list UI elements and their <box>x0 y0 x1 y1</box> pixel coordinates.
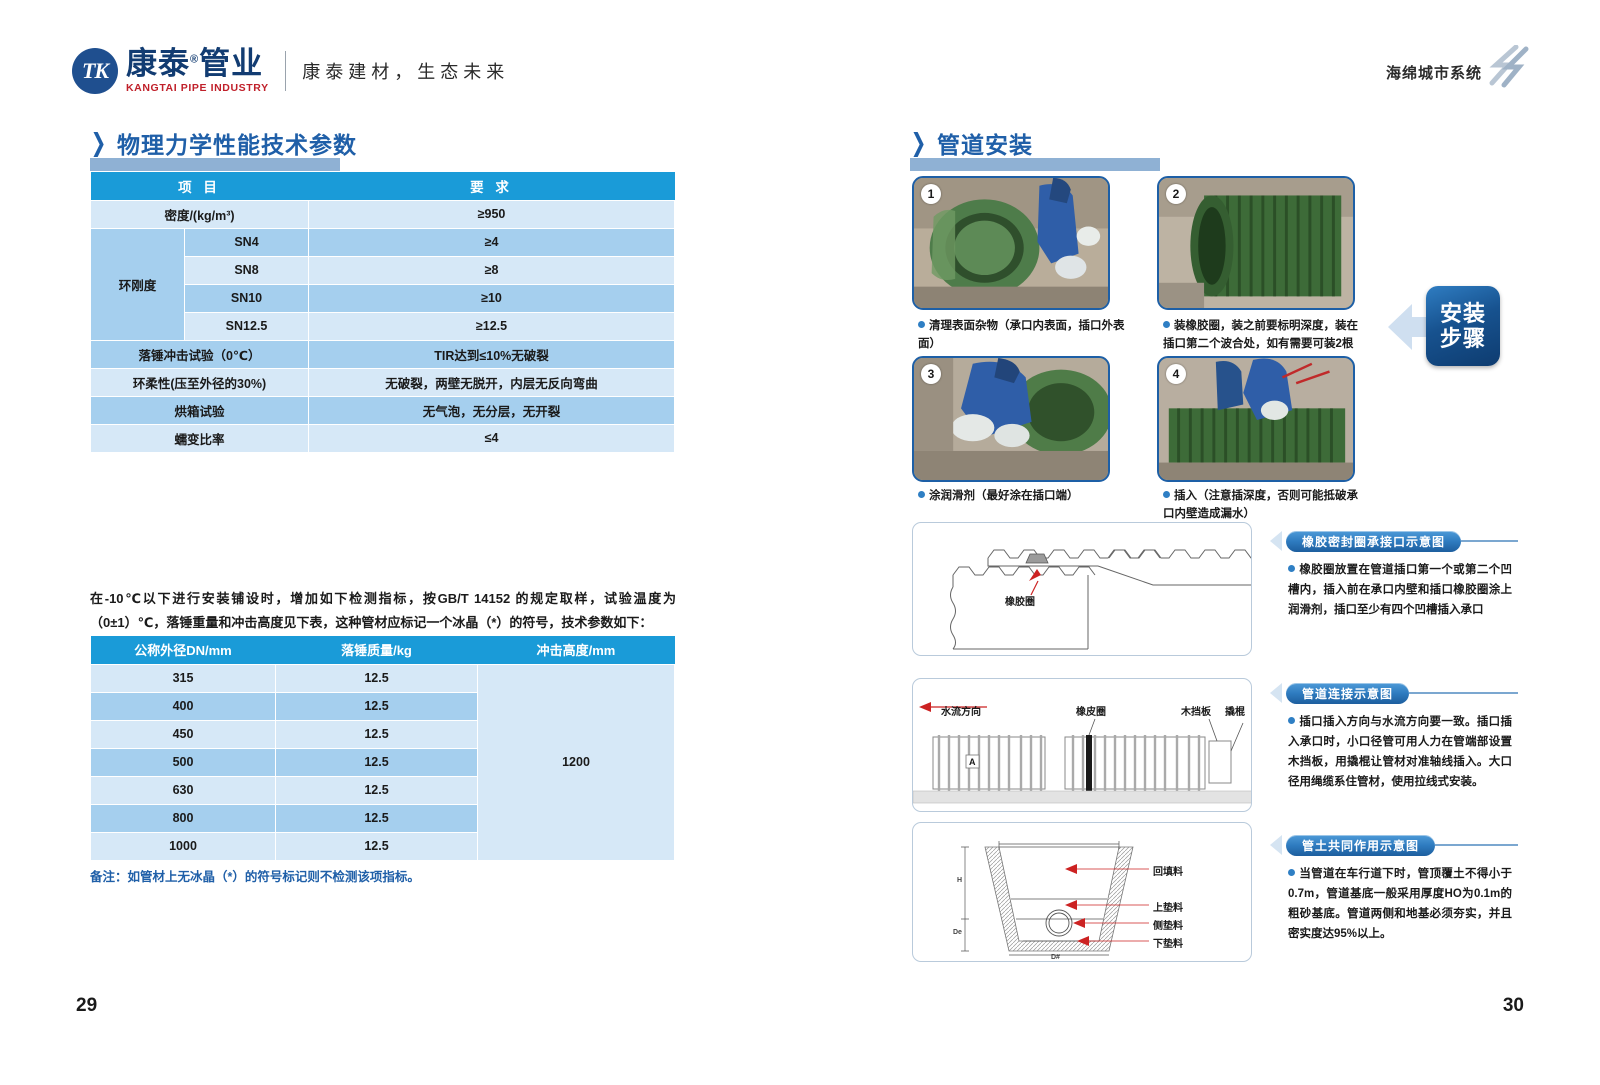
cell-dn: 400 <box>91 692 276 720</box>
photo-caption-4-text: 插入（注意插深度，否则可能抵破承口内壁造成漏水） <box>1163 490 1358 520</box>
diagram-label-a: A <box>969 757 976 767</box>
pipe-connection-drawing <box>913 679 1252 812</box>
cell-dn: 315 <box>91 664 276 692</box>
table-row: 落锤冲击试验（0℃） TIR达到≤10%无破裂 <box>91 340 675 368</box>
diagram-label-flow-direction: 水流方向 <box>941 703 981 718</box>
company-logo: TK 康泰®管业 KANGTAI PIPE INDUSTRY 康泰建材，生态未来 <box>72 48 509 94</box>
logo-cn-part1: 康泰 <box>126 46 190 81</box>
cell-req: ≥8 <box>309 256 675 284</box>
right-section-title-text: 管道安装 <box>937 126 1033 160</box>
diagram-label-dw: D# <box>1051 954 1060 961</box>
photo-caption-3-text: 涂润滑剂（最好涂在插口端） <box>929 490 1079 502</box>
pill-body-pipe-connection: 插口插入方向与水流方向要一致。插口插入承口时，小口径管可用人力在管端部设置木挡板… <box>1288 712 1512 793</box>
photo-step-1: 1 <box>912 176 1110 310</box>
photo-step-4: 4 <box>1157 356 1355 482</box>
photo-3-image <box>914 358 1108 480</box>
logo-chinese-name: 康泰®管业 <box>126 48 269 81</box>
cell-dn: 1000 <box>91 832 276 860</box>
header-right-label: 海绵城市系统 <box>1386 62 1482 83</box>
pill-body-soil-interaction-text: 当管道在车行道下时，管顶覆土不得小于0.7m，管道基底一般采用厚度HO为0.1m… <box>1288 868 1512 940</box>
pill-text-rubber-seal: 橡胶密封圈承接口示意图 <box>1286 531 1461 552</box>
cell-item: 密度/(kg/m³) <box>91 200 309 228</box>
chevron-right-icon: ❯ <box>91 131 107 156</box>
cell-impact-height: 1200 <box>478 664 675 860</box>
cell-req: ≥10 <box>309 284 675 312</box>
company-slogan: 康泰建材，生态未来 <box>302 58 509 84</box>
photo-caption-1: 清理表面杂物（承口内表面，插口外表面） <box>918 318 1133 354</box>
photo-badge-2: 2 <box>1166 184 1186 204</box>
table-row: 烘箱试验 无气泡，无分层，无开裂 <box>91 396 675 424</box>
photo-2-image <box>1159 178 1353 308</box>
photo-4-image <box>1159 358 1353 480</box>
left-arrow-icon <box>1270 682 1286 704</box>
cell-req: ≥12.5 <box>309 312 675 340</box>
low-temp-paragraph: 在-10℃以下进行安装铺设时，增加如下检测指标，按GB/T 14152 的规定取… <box>90 587 676 635</box>
diagram-label-h: H <box>957 877 962 884</box>
cell-item: 落锤冲击试验（0℃） <box>91 340 309 368</box>
diagram-panel-rubber-seal: 橡胶圈 <box>912 522 1252 656</box>
photo-caption-2-text: 装橡胶圈，装之前要标明深度，装在插口第二个波合处，如有需要可装2根 <box>1163 320 1358 350</box>
cell-dn: 800 <box>91 804 276 832</box>
photo-caption-1-text: 清理表面杂物（承口内表面，插口外表面） <box>918 320 1125 350</box>
cell-sub: SN12.5 <box>185 312 309 340</box>
page-number-right: 30 <box>1503 995 1524 1017</box>
cell-mass: 12.5 <box>276 804 478 832</box>
rubber-seal-drawing <box>913 523 1252 656</box>
diagram-label-rubber-ring: 橡胶圈 <box>1005 593 1035 608</box>
bullet-icon <box>1163 321 1170 328</box>
logo-divider <box>285 51 287 91</box>
diagram-label-lower-bedding: 下垫料 <box>1153 935 1183 950</box>
cell-item: 烘箱试验 <box>91 396 309 424</box>
table-header-row: 公称外径DN/mm 落锤质量/kg 冲击高度/mm <box>91 636 675 664</box>
th-mass: 落锤质量/kg <box>276 636 478 664</box>
cell-mass: 12.5 <box>276 720 478 748</box>
cell-dn: 450 <box>91 720 276 748</box>
cell-mass: 12.5 <box>276 832 478 860</box>
left-title-underbar <box>90 158 340 171</box>
physical-properties-table: 项 目 要 求 密度/(kg/m³) ≥950 环刚度 SN4 ≥4 SN8 ≥… <box>90 172 675 453</box>
right-title-underbar <box>910 158 1160 171</box>
diagram-panel-pipe-connection: 水流方向 橡皮圈 木挡板 撬棍 A <box>912 678 1252 812</box>
logo-english-name: KANGTAI PIPE INDUSTRY <box>126 82 269 94</box>
diagram-label-de: De <box>953 929 962 936</box>
drop-hammer-table: 公称外径DN/mm 落锤质量/kg 冲击高度/mm 315 12.5 1200 … <box>90 636 675 861</box>
bullet-icon <box>1288 717 1295 724</box>
steps-badge-line1: 安装 <box>1440 301 1486 326</box>
logo-cn-part2: 管业 <box>199 46 263 81</box>
trench-drawing <box>913 823 1252 962</box>
th-item: 项 目 <box>91 172 309 200</box>
logo-registered-mark: ® <box>190 54 199 66</box>
bullet-icon <box>918 491 925 498</box>
photo-caption-4: 插入（注意插深度，否则可能抵破承口内壁造成漏水） <box>1163 488 1363 524</box>
cell-req: ≤4 <box>309 424 675 452</box>
pill-tail <box>1409 692 1518 694</box>
photo-caption-3: 涂润滑剂（最好涂在插口端） <box>918 488 1133 506</box>
photo-1-image <box>914 178 1108 308</box>
document-page: TK 康泰®管业 KANGTAI PIPE INDUSTRY 康泰建材，生态未来… <box>0 0 1600 1085</box>
pill-tail <box>1435 844 1518 846</box>
cell-req: 无破裂，两壁无脱开，内层无反向弯曲 <box>309 368 675 396</box>
table-footnote: 备注：如管材上无冰晶（*）的符号标记则不检测该项指标。 <box>90 866 420 885</box>
diagram-label-wood-board: 木挡板 <box>1181 703 1211 718</box>
photo-badge-4: 4 <box>1166 364 1186 384</box>
photo-badge-3: 3 <box>921 364 941 384</box>
cell-mass: 12.5 <box>276 776 478 804</box>
th-dn: 公称外径DN/mm <box>91 636 276 664</box>
install-steps-badge: 安装 步骤 <box>1426 286 1500 366</box>
th-requirement: 要 求 <box>309 172 675 200</box>
bullet-icon <box>1163 491 1170 498</box>
cell-mass: 12.5 <box>276 748 478 776</box>
cell-sub: SN4 <box>185 228 309 256</box>
pill-label-rubber-seal: 橡胶密封圈承接口示意图 <box>1270 530 1518 552</box>
cell-group-ring-stiffness: 环刚度 <box>91 228 185 340</box>
bullet-icon <box>918 321 925 328</box>
table-row: 环柔性(压至外径的30%) 无破裂，两壁无脱开，内层无反向弯曲 <box>91 368 675 396</box>
cell-dn: 630 <box>91 776 276 804</box>
cell-req: 无气泡，无分层，无开裂 <box>309 396 675 424</box>
cell-item: 蠕变比率 <box>91 424 309 452</box>
logo-mark-icon: TK <box>72 48 118 94</box>
table-row: 环刚度 SN4 ≥4 <box>91 228 675 256</box>
left-section-title-text: 物理力学性能技术参数 <box>117 126 357 160</box>
cell-dn: 500 <box>91 748 276 776</box>
photo-caption-2: 装橡胶圈，装之前要标明深度，装在插口第二个波合处，如有需要可装2根 <box>1163 318 1363 354</box>
photo-badge-1: 1 <box>921 184 941 204</box>
table-row: 蠕变比率 ≤4 <box>91 424 675 452</box>
cell-sub: SN8 <box>185 256 309 284</box>
table-header-row: 项 目 要 求 <box>91 172 675 200</box>
pill-label-pipe-connection: 管道连接示意图 <box>1270 682 1518 704</box>
cell-mass: 12.5 <box>276 692 478 720</box>
table-row: 315 12.5 1200 <box>91 664 675 692</box>
cell-req: ≥950 <box>309 200 675 228</box>
pill-body-rubber-seal-text: 橡胶圈放置在管道插口第一个或第二个凹槽内，插入前在承口内壁和插口橡胶圈涂上润滑剂… <box>1288 564 1512 616</box>
left-section-title: ❯ 物理力学性能技术参数 <box>88 126 357 160</box>
left-arrow-icon <box>1270 530 1286 552</box>
th-height: 冲击高度/mm <box>478 636 675 664</box>
photo-step-2: 2 <box>1157 176 1355 310</box>
swirl-icon <box>1486 45 1530 93</box>
pill-body-pipe-connection-text: 插口插入方向与水流方向要一致。插口插入承口时，小口径管可用人力在管端部设置木挡板… <box>1288 716 1512 788</box>
diagram-label-side-bedding: 侧垫料 <box>1153 917 1183 932</box>
pill-text-soil-interaction: 管土共同作用示意图 <box>1286 835 1435 856</box>
pill-body-soil-interaction: 当管道在车行道下时，管顶覆土不得小于0.7m，管道基底一般采用厚度HO为0.1m… <box>1288 864 1512 945</box>
chevron-right-icon: ❯ <box>911 131 927 156</box>
cell-item: 环柔性(压至外径的30%) <box>91 368 309 396</box>
page-number-left: 29 <box>76 995 97 1017</box>
cell-req: TIR达到≤10%无破裂 <box>309 340 675 368</box>
diagram-label-crowbar: 撬棍 <box>1225 703 1245 718</box>
pill-text-pipe-connection: 管道连接示意图 <box>1286 683 1409 704</box>
cell-req: ≥4 <box>309 228 675 256</box>
left-arrow-icon <box>1270 834 1286 856</box>
pill-tail <box>1461 540 1518 542</box>
cell-sub: SN10 <box>185 284 309 312</box>
logo-wordmark: 康泰®管业 KANGTAI PIPE INDUSTRY <box>126 48 269 94</box>
bullet-icon <box>1288 869 1295 876</box>
pill-body-rubber-seal: 橡胶圈放置在管道插口第一个或第二个凹槽内，插入前在承口内壁和插口橡胶圈涂上润滑剂… <box>1288 560 1512 620</box>
cell-mass: 12.5 <box>276 664 478 692</box>
diagram-label-rubber-ring: 橡皮圈 <box>1076 703 1106 718</box>
diagram-label-upper-bedding: 上垫料 <box>1153 899 1183 914</box>
steps-badge-line2: 步骤 <box>1440 326 1486 351</box>
right-section-title: ❯ 管道安装 <box>908 126 1033 160</box>
bullet-icon <box>1288 565 1295 572</box>
photo-step-3: 3 <box>912 356 1110 482</box>
diagram-label-backfill: 回填料 <box>1153 863 1183 878</box>
table-row: 密度/(kg/m³) ≥950 <box>91 200 675 228</box>
diagram-panel-trench: 回填料 上垫料 侧垫料 下垫料 H De D# <box>912 822 1252 962</box>
pill-label-soil-interaction: 管土共同作用示意图 <box>1270 834 1518 856</box>
